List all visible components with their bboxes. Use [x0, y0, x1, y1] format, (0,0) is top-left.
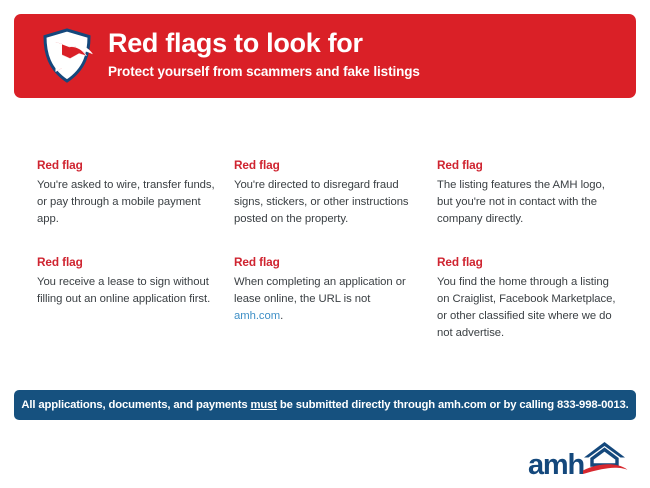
house-roof-swoosh-icon [582, 440, 628, 479]
red-flag-grid: Red flag You're asked to wire, transfer … [37, 158, 627, 342]
red-flag-card: Red flag When completing an application … [234, 255, 412, 343]
footer-text-after: be submitted directly through amh.com or… [277, 399, 629, 411]
red-flag-body: You receive a lease to sign without fill… [37, 274, 215, 308]
amh-com-link[interactable]: amh.com [234, 310, 280, 322]
header-text-group: Red flags to look for Protect yourself f… [108, 29, 420, 82]
header-banner: Red flags to look for Protect yourself f… [14, 14, 636, 98]
footer-emphasis-must: must [251, 399, 277, 411]
amh-logo: amh [528, 440, 628, 480]
infographic-page: Red flags to look for Protect yourself f… [0, 0, 650, 488]
red-flag-heading: Red flag [437, 255, 621, 269]
red-flag-body: You're asked to wire, transfer funds, or… [37, 177, 215, 228]
page-subtitle: Protect yourself from scammers and fake … [108, 64, 420, 81]
red-flag-body-text: When completing an application or lease … [234, 276, 406, 305]
red-flag-card: Red flag You receive a lease to sign wit… [37, 255, 215, 343]
red-flag-card: Red flag You're directed to disregard fr… [234, 158, 412, 229]
shield-flag-icon [36, 25, 98, 87]
red-flag-card: Red flag You're asked to wire, transfer … [37, 158, 215, 229]
red-flag-body: You find the home through a listing on C… [437, 274, 621, 343]
red-flag-heading: Red flag [437, 158, 621, 172]
red-flag-card: Red flag You find the home through a lis… [437, 255, 621, 343]
amh-wordmark: amh [528, 451, 584, 480]
red-flag-heading: Red flag [234, 255, 412, 269]
red-flag-body: The listing features the AMH logo, but y… [437, 177, 621, 228]
footer-text-before: All applications, documents, and payment… [21, 399, 250, 411]
footer-notice-bar: All applications, documents, and payment… [14, 390, 636, 420]
red-flag-heading: Red flag [37, 158, 215, 172]
red-flag-card: Red flag The listing features the AMH lo… [437, 158, 621, 229]
footer-notice-text: All applications, documents, and payment… [21, 399, 628, 411]
red-flag-body: When completing an application or lease … [234, 274, 412, 325]
red-flag-body: You're directed to disregard fraud signs… [234, 177, 412, 228]
red-flag-heading: Red flag [234, 158, 412, 172]
red-flag-body-text-end: . [280, 310, 283, 322]
red-flag-heading: Red flag [37, 255, 215, 269]
page-title: Red flags to look for [108, 29, 420, 57]
